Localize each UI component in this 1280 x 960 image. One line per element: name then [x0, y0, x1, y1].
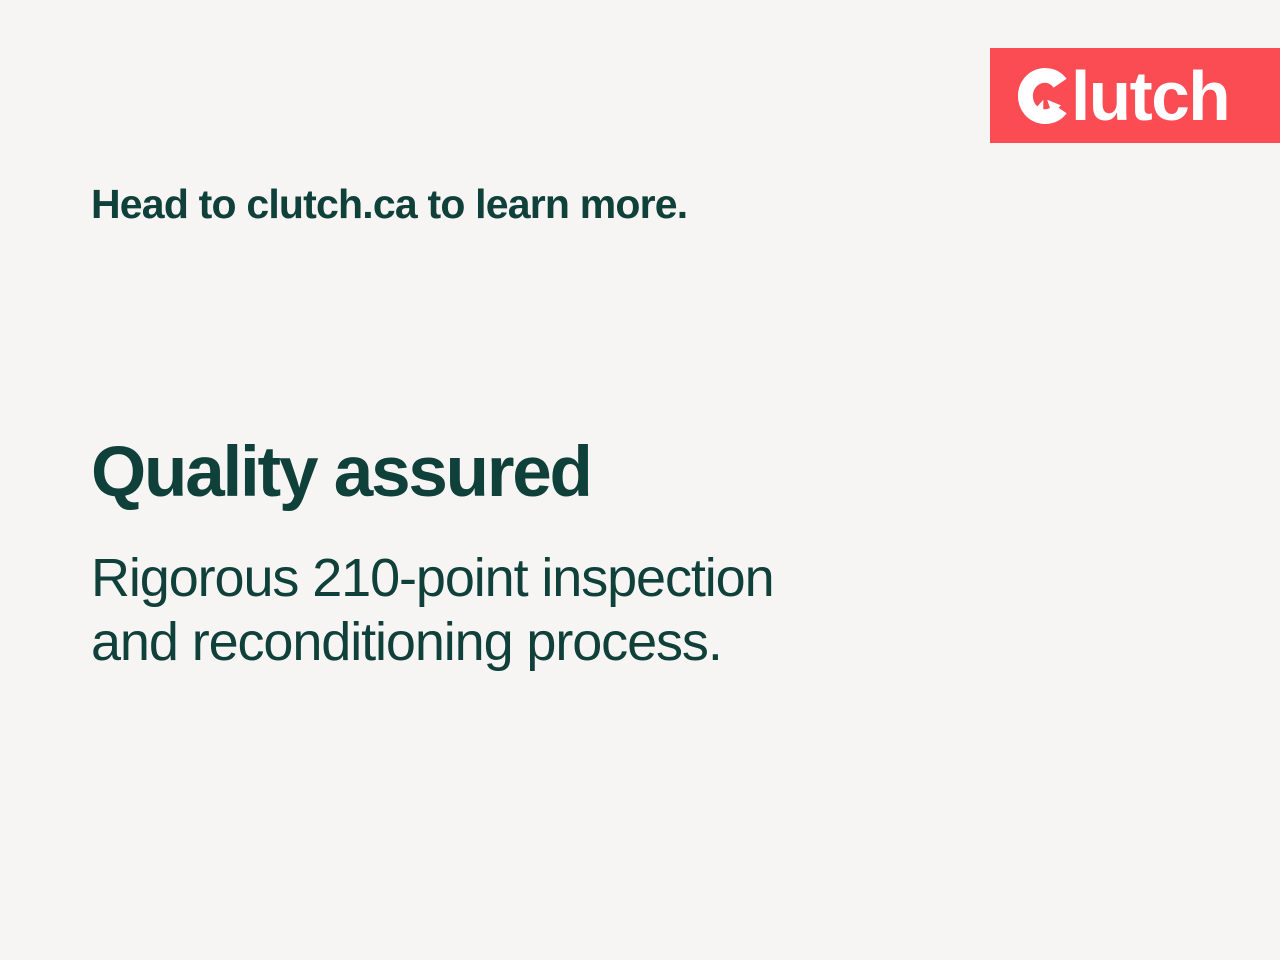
brand-badge: lutch: [990, 48, 1280, 143]
clutch-wheel-c-icon: [1017, 68, 1069, 124]
kicker-text: Head to clutch.ca to learn more.: [91, 182, 687, 228]
subheading-line-1: Rigorous 210-point inspection: [91, 546, 774, 610]
slide-canvas: lutch Head to clutch.ca to learn more. Q…: [0, 0, 1280, 960]
subheading: Rigorous 210-point inspection and recond…: [91, 546, 774, 675]
page-title: Quality assured: [91, 437, 591, 508]
brand-wordmark: lutch: [1071, 61, 1229, 131]
subheading-line-2: and reconditioning process.: [91, 610, 774, 674]
brand-lockup: lutch: [1017, 61, 1231, 131]
